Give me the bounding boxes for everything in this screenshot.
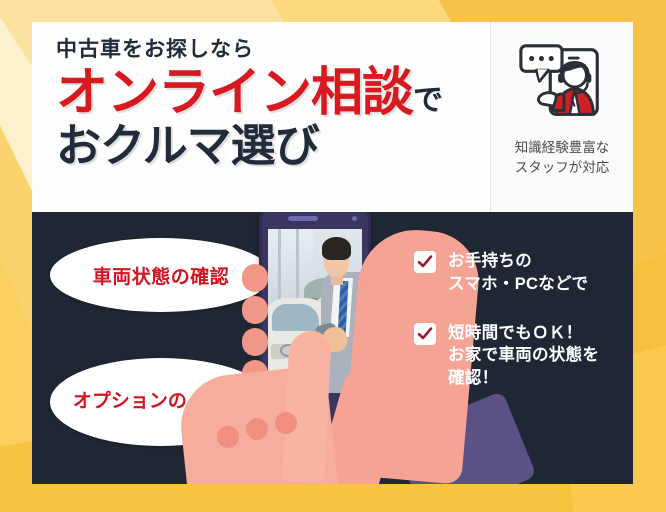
checklist-item-text: 短時間でもＯＫ！ お家で車両の状態を 確認！	[448, 322, 599, 390]
finger-left	[242, 296, 268, 324]
promo-banner: 中古車をお探しなら オンライン相談で おクルマ選び	[0, 0, 666, 512]
staff-caption-line1: 知識経験豊富な	[515, 138, 610, 158]
header-card: 中古車をお探しなら オンライン相談で おクルマ選び	[32, 22, 633, 212]
knuckle	[275, 412, 297, 434]
pointing-finger	[282, 331, 332, 483]
phone-speaker	[288, 216, 318, 221]
finger-left	[242, 328, 268, 356]
staff-caption: 知識経験豊富な スタッフが対応	[515, 138, 610, 177]
headline-block: 中古車をお探しなら オンライン相談で おクルマ選び	[32, 22, 490, 212]
headline-primary-red: オンライン相談	[56, 64, 413, 122]
checkmark-icon[interactable]	[414, 251, 436, 273]
staff-caption-line2: スタッフが対応	[515, 158, 610, 178]
photo-car-windshield	[272, 304, 319, 330]
headline-primary: オンライン相談で	[56, 67, 490, 119]
headset-operator-icon	[513, 38, 611, 130]
finger-left	[242, 264, 268, 292]
checklist-item-text: お手持ちの スマホ・PCなどで	[448, 250, 588, 296]
kicker-text: 中古車をお探しなら	[56, 38, 490, 61]
headline-secondary: おクルマ選び	[56, 123, 490, 168]
photo-window-frame	[278, 229, 281, 304]
photo-salesperson-hair	[322, 237, 351, 260]
phone-camera	[352, 216, 357, 221]
knuckle	[246, 418, 268, 440]
callout-pill-vehicle-condition[interactable]: 車両状態の確認	[50, 238, 272, 312]
staff-column: 知識経験豊富な スタッフが対応	[490, 22, 633, 212]
checklist-item: 短時間でもＯＫ！ お家で車両の状態を 確認！	[414, 322, 620, 390]
knuckle	[217, 426, 239, 448]
feature-checklist: お手持ちの スマホ・PCなどで 短時間でもＯＫ！ お家で車両の状態を 確認！	[414, 250, 620, 416]
photo-window-frame	[296, 229, 299, 304]
checklist-item: お手持ちの スマホ・PCなどで	[414, 250, 620, 296]
headline-primary-suffix: で	[413, 84, 442, 117]
dark-content-panel: 車両状態の確認 オプションの ご相談	[32, 212, 633, 484]
checkmark-icon[interactable]	[414, 323, 436, 345]
